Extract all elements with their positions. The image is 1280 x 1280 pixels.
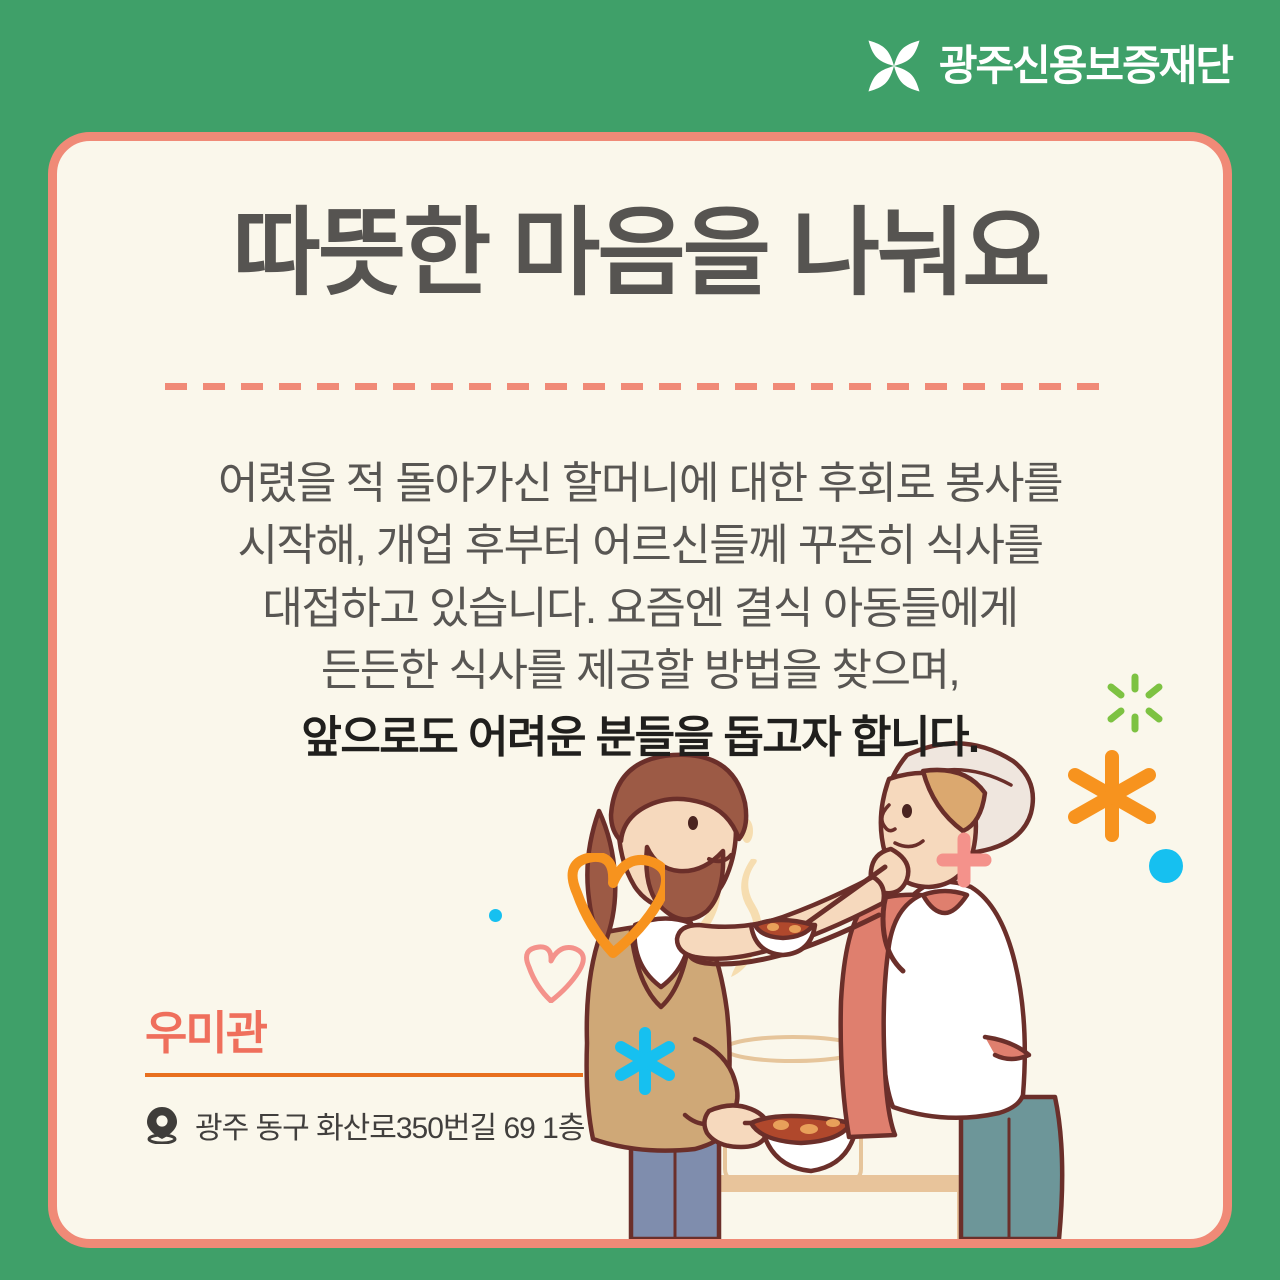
content-card: 따뜻한 마음을 나눠요 어렸을 적 돌아가신 할머니에 대한 후회로 봉사를 시… — [48, 132, 1232, 1248]
volunteer-serving-soup-illustration — [523, 719, 1223, 1239]
dashed-divider — [165, 383, 1115, 390]
body-line: 대접하고 있습니다. 요즘엔 결식 아동들에게 — [127, 578, 1153, 640]
store-name: 우미관 — [145, 1008, 615, 1059]
location-pin-icon — [145, 1106, 179, 1144]
body-copy: 어렸을 적 돌아가신 할머니에 대한 후회로 봉사를 시작해, 개업 후부터 어… — [127, 453, 1153, 769]
store-address-row: 광주 동구 화산로350번길 69 1층 — [145, 1103, 615, 1147]
brand-bar: 광주신용보증재단 — [865, 34, 1232, 98]
poster-canvas: 광주신용보증재단 — [0, 0, 1280, 1280]
body-line: 시작해, 개업 후부터 어르신들께 꾸준히 식사를 — [127, 515, 1153, 577]
pinwheel-star-icon — [865, 37, 923, 95]
brand-name: 광주신용보증재단 — [939, 45, 1232, 87]
cyan-dot — [489, 909, 502, 922]
body-line: 어렸을 적 돌아가신 할머니에 대한 후회로 봉사를 — [127, 453, 1153, 515]
body-line-emphasis: 앞으로도 어려운 분들을 돕고자 합니다. — [127, 707, 1153, 769]
page-title: 따뜻한 마음을 나눠요 — [57, 199, 1223, 309]
store-rule — [145, 1073, 583, 1077]
body-line: 든든한 식사를 제공할 방법을 찾으며, — [127, 640, 1153, 702]
store-address: 광주 동구 화산로350번길 69 1층 — [195, 1103, 584, 1147]
store-info: 우미관 광주 동구 화산로350번길 69 1층 — [145, 1008, 615, 1147]
